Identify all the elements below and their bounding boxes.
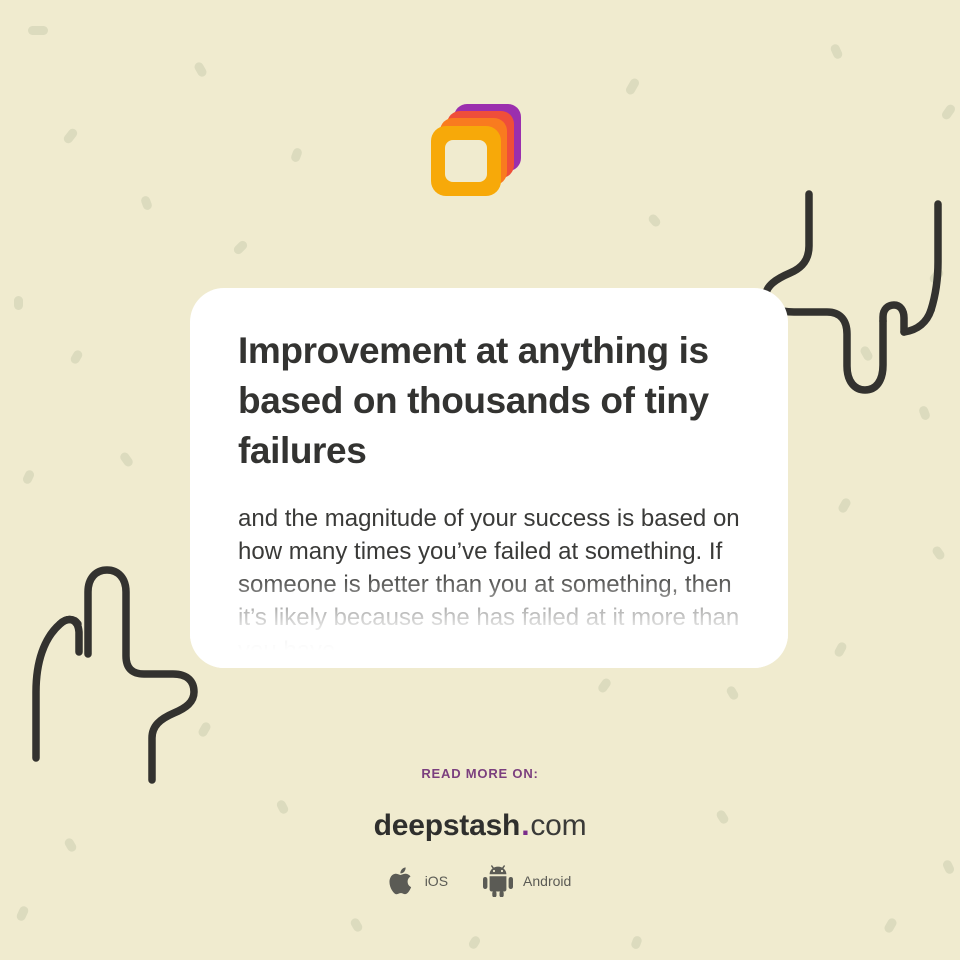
brand-name: deepstash <box>374 809 521 842</box>
confetti-speck <box>940 103 957 121</box>
app-store-badges: iOS And <box>0 865 960 897</box>
ios-label: iOS <box>425 873 448 889</box>
footer: READ MORE ON: deepstash.com iOS <box>0 766 960 897</box>
brand-tld: com <box>530 809 586 842</box>
confetti-speck <box>918 405 931 421</box>
confetti-speck <box>725 685 740 702</box>
brand-dot: . <box>520 809 530 842</box>
confetti-speck <box>290 147 303 163</box>
confetti-speck <box>232 239 249 256</box>
confetti-speck <box>349 917 364 934</box>
confetti-speck <box>14 296 23 310</box>
ios-badge[interactable]: iOS <box>389 865 448 897</box>
confetti-speck <box>119 451 135 468</box>
android-icon <box>482 865 514 897</box>
confetti-speck <box>833 641 848 658</box>
confetti-speck <box>837 497 852 514</box>
logo-inner-cutout <box>445 140 487 182</box>
confetti-speck <box>647 213 662 229</box>
confetti-speck <box>883 917 898 934</box>
quote-card-content: Improvement at anything is based on thou… <box>190 288 788 667</box>
confetti-speck <box>62 127 79 145</box>
brand-url[interactable]: deepstash.com <box>0 809 960 843</box>
confetti-speck <box>624 77 640 96</box>
confetti-speck <box>15 905 29 922</box>
confetti-speck <box>69 349 84 366</box>
confetti-speck <box>193 61 208 78</box>
apple-icon <box>389 865 416 897</box>
poster-canvas: Improvement at anything is based on thou… <box>0 0 960 960</box>
confetti-speck <box>597 677 613 694</box>
deepstash-logo <box>431 104 521 196</box>
android-badge[interactable]: Android <box>482 865 571 897</box>
confetti-speck <box>829 43 843 60</box>
confetti-speck <box>28 26 48 35</box>
read-more-label: READ MORE ON: <box>0 766 960 781</box>
confetti-speck <box>931 545 946 562</box>
confetti-speck <box>21 469 35 485</box>
confetti-speck <box>630 935 643 950</box>
quote-card: Improvement at anything is based on thou… <box>190 288 788 668</box>
quote-body: and the magnitude of your success is bas… <box>238 502 740 667</box>
quote-title: Improvement at anything is based on thou… <box>238 326 738 476</box>
confetti-speck <box>140 195 153 211</box>
confetti-speck <box>467 935 482 951</box>
android-label: Android <box>523 873 571 889</box>
